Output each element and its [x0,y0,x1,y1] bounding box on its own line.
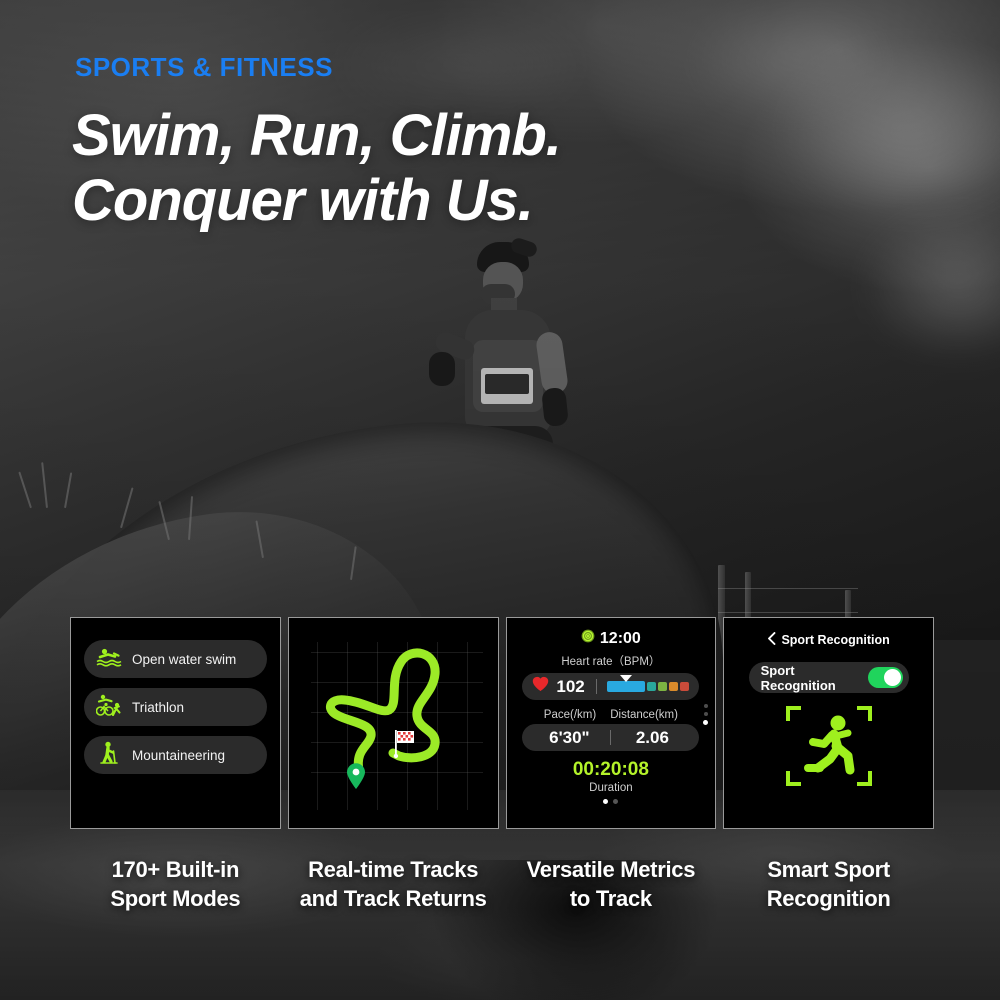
caption-line-2: to Track [506,884,717,913]
sport-mode-item-open-water-swim[interactable]: Open water swim [84,640,267,678]
sport-recognition-toggle-row[interactable]: Sport Recognition [749,662,909,693]
sport-mode-label: Triathlon [132,700,184,715]
heart-rate-zone-bars [607,681,689,692]
hr-zone-1 [607,681,645,692]
hr-zone-4 [669,682,678,691]
pace-value: 6'30" [532,728,606,748]
page-dot-active [603,799,608,804]
duration-value: 00:20:08 [507,759,716,781]
sport-mode-label: Open water swim [132,652,236,667]
running-person-scan-icon [786,706,872,786]
hr-zone-2 [647,682,656,691]
hr-zone-3 [658,682,667,691]
caption-line-2: Recognition [723,884,934,913]
running-person-glyph [786,706,872,786]
sport-recognition-toggle[interactable] [868,667,902,688]
caption-line-1: Smart Sport [723,855,934,884]
location-pin-icon [345,762,367,790]
heart-rate-label: Heart rate（BPM） [507,653,716,669]
metrics-header: 12:00 Heart rate（BPM） [507,618,716,669]
sport-mode-item-mountaineering[interactable]: Mountaineering [84,736,267,774]
caption-line-1: Real-time Tracks [288,855,499,884]
caption-line-1: Versatile Metrics [506,855,717,884]
caption-line-2: Sport Modes [70,884,281,913]
route-path [289,618,499,829]
card-route-track [288,617,499,829]
caption-row: 170+ Built-in Sport Modes Real-time Trac… [70,855,934,913]
metric-labels: Pace(/km) Distance(km) [507,709,716,721]
heart-rate-row[interactable]: 102 [522,673,699,700]
divider [610,730,611,745]
caption-line-1: 170+ Built-in [70,855,281,884]
distance-label: Distance(km) [610,709,678,721]
gps-signal-icon [581,629,595,648]
caption-route-track: Real-time Tracks and Track Returns [288,855,499,913]
caption-sport-recognition: Smart Sport Recognition [723,855,934,913]
scroll-dot [704,712,708,716]
mountaineering-icon [96,741,122,770]
sport-mode-item-triathlon[interactable]: Triathlon [84,688,267,726]
scroll-indicator[interactable] [703,704,708,725]
hr-zone-5 [680,682,689,691]
pace-distance-row[interactable]: 6'30" 2.06 [522,724,699,751]
scroll-dot-active [703,720,708,725]
pace-label: Pace(/km) [544,709,596,721]
eyebrow-label: SPORTS & FITNESS [75,52,333,83]
page-indicator[interactable] [507,799,716,804]
scroll-dot [704,704,708,708]
triathlon-icon [96,694,122,721]
watch-time-row: 12:00 [507,629,716,648]
heart-rate-value: 102 [556,677,584,697]
distance-value: 2.06 [615,728,689,748]
watch-time: 12:00 [600,630,641,648]
sport-mode-label: Mountaineering [132,748,225,763]
divider [596,679,597,694]
headline-line-2: Conquer with Us. [72,169,561,234]
card-sport-recognition: Sport Recognition Sport Recognition [723,617,934,829]
card-metrics: 12:00 Heart rate（BPM） 102 [506,617,717,829]
duration-label: Duration [507,782,716,794]
sport-mode-list: Open water swim [71,618,280,774]
headline-line-1: Swim, Run, Climb. [72,104,561,169]
toggle-label: Sport Recognition [761,663,869,693]
checkered-flag-icon [392,729,418,759]
hr-zone-marker [620,675,632,682]
card-sport-modes: Open water swim [70,617,281,829]
route-map[interactable] [289,618,498,828]
caption-metrics: Versatile Metrics to Track [506,855,717,913]
heart-icon [532,676,549,697]
sport-recognition-title: Sport Recognition [781,633,889,647]
page-dot [613,799,618,804]
caption-line-2: and Track Returns [288,884,499,913]
feature-cards: Open water swim [70,617,934,829]
toggle-knob [884,669,901,686]
page-title: Swim, Run, Climb. Conquer with Us. [72,104,561,234]
open-water-swim-icon [96,647,122,672]
caption-sport-modes: 170+ Built-in Sport Modes [70,855,281,913]
sport-recognition-header: Sport Recognition [724,618,933,648]
chevron-left-icon[interactable] [767,632,776,648]
